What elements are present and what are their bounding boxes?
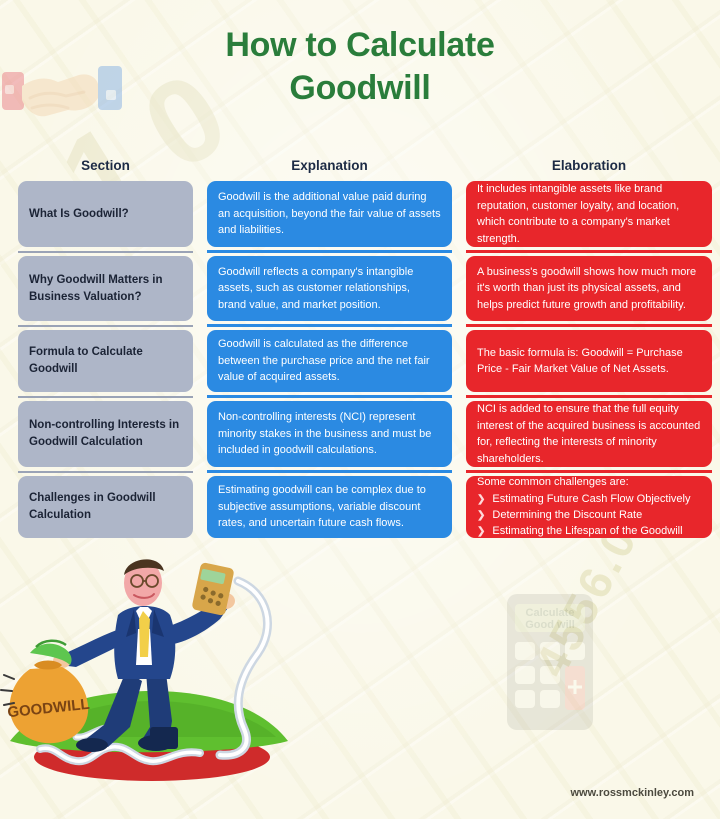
column-spacer <box>452 158 466 173</box>
column-spacer <box>452 401 466 467</box>
page-title-wrapper: How to Calculate Goodwill <box>0 24 720 109</box>
calculator-display-line2: Good will <box>525 619 575 631</box>
column-spacer <box>193 181 207 247</box>
divider-section <box>18 325 193 327</box>
table-row: Why Goodwill Matters in Business Valuati… <box>0 256 720 321</box>
cell-elaboration: The basic formula is: Goodwill = Purchas… <box>466 330 712 392</box>
cell-elaboration: NCI is added to ensure that the full equ… <box>466 401 712 467</box>
cell-section: What Is Goodwill? <box>18 181 193 247</box>
cell-elaboration-challenges: Some common challenges are: ❯ Estimating… <box>466 476 712 538</box>
divider-explanation <box>207 324 452 327</box>
cell-explanation: Estimating goodwill can be complex due t… <box>207 476 452 538</box>
table-header-row: Section Explanation Elaboration <box>0 158 720 173</box>
cell-section: Challenges in Goodwill Calculation <box>18 476 193 538</box>
cell-elaboration: It includes intangible assets like brand… <box>466 181 712 247</box>
divider-section <box>18 396 193 398</box>
list-item-label: Estimating the Lifespan of the Goodwill <box>492 524 682 540</box>
divider-explanation <box>207 395 452 398</box>
divider-elaboration <box>466 324 712 327</box>
table-row: Challenges in Goodwill Calculation Estim… <box>0 476 720 538</box>
column-spacer <box>193 256 207 321</box>
cell-section: Formula to Calculate Goodwill <box>18 330 193 392</box>
calculator-display-line1: Calculate <box>526 607 575 619</box>
cell-explanation: Goodwill reflects a company's intangible… <box>207 256 452 321</box>
divider-elaboration <box>466 395 712 398</box>
column-spacer <box>452 256 466 321</box>
cell-explanation: Non-controlling interests (NCI) represen… <box>207 401 452 467</box>
divider-section <box>18 471 193 473</box>
businessman-goodwill-illustration: GOODWILL <box>0 541 300 781</box>
divider-section <box>18 251 193 253</box>
divider-explanation <box>207 250 452 253</box>
column-spacer <box>193 401 207 467</box>
column-spacer <box>452 330 466 392</box>
divider-elaboration <box>466 470 712 473</box>
list-item-label: Estimating Future Cash Flow Objectively <box>492 492 690 508</box>
list-item-label: Determining the Discount Rate <box>492 508 642 524</box>
row-divider <box>0 392 720 401</box>
chevron-right-icon: ❯ <box>477 508 485 524</box>
row-divider <box>0 321 720 330</box>
list-item: ❯ Estimating the Lifespan of the Goodwil… <box>477 524 701 540</box>
challenges-list: ❯ Estimating Future Cash Flow Objectivel… <box>477 492 701 540</box>
cell-section: Why Goodwill Matters in Business Valuati… <box>18 256 193 321</box>
column-spacer <box>452 476 466 538</box>
column-header-section: Section <box>18 158 193 173</box>
page-title-line2: Goodwill <box>289 69 430 107</box>
table-row: Non-controlling Interests in Goodwill Ca… <box>0 401 720 467</box>
row-divider <box>0 247 720 256</box>
column-header-explanation: Explanation <box>207 158 452 173</box>
chevron-right-icon: ❯ <box>477 492 485 508</box>
page-title: How to Calculate Goodwill <box>0 24 720 109</box>
table-row: Formula to Calculate Goodwill Goodwill i… <box>0 330 720 392</box>
comparison-table: Section Explanation Elaboration What Is … <box>0 158 720 538</box>
challenges-intro: Some common challenges are: <box>477 474 701 491</box>
column-spacer <box>452 181 466 247</box>
page-title-line1: How to Calculate <box>225 26 494 64</box>
chevron-right-icon: ❯ <box>477 524 485 540</box>
calculator-watermark-icon: Calculate Good will <box>505 592 595 732</box>
divider-explanation <box>207 470 452 473</box>
column-spacer <box>193 476 207 538</box>
list-item: ❯ Estimating Future Cash Flow Objectivel… <box>477 492 701 508</box>
column-spacer <box>193 158 207 173</box>
divider-elaboration <box>466 250 712 253</box>
table-row: What Is Goodwill? Goodwill is the additi… <box>0 181 720 247</box>
column-header-elaboration: Elaboration <box>466 158 712 173</box>
column-spacer <box>193 330 207 392</box>
footer-url: www.rossmckinley.com <box>571 787 695 799</box>
businessman-tie <box>139 611 150 657</box>
cell-section: Non-controlling Interests in Goodwill Ca… <box>18 401 193 467</box>
cell-explanation: Goodwill is calculated as the difference… <box>207 330 452 392</box>
list-item: ❯ Determining the Discount Rate <box>477 508 701 524</box>
cell-explanation: Goodwill is the additional value paid du… <box>207 181 452 247</box>
cell-elaboration: A business's goodwill shows how much mor… <box>466 256 712 321</box>
